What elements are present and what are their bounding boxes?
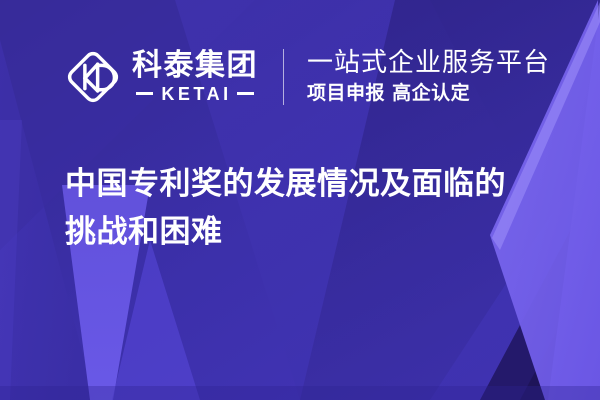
banner-header: 科泰集团 KETAI 一站式企业服务平台 项目申报 高企认定 <box>64 40 550 114</box>
brand-logo[interactable]: 科泰集团 KETAI <box>64 40 258 114</box>
brand-slogan: 一站式企业服务平台 项目申报 高企认定 <box>307 48 550 106</box>
brand-wordmark: 科泰集团 KETAI <box>132 51 258 103</box>
ketai-diamond-kd-monogram-icon <box>64 48 122 106</box>
page-title: 中国专利奖的发展情况及面临的挑战和困难 <box>65 160 535 256</box>
brand-name-en-row: KETAI <box>132 85 258 103</box>
slogan-secondary: 项目申报 高企认定 <box>307 81 550 106</box>
slogan-primary: 一站式企业服务平台 <box>307 48 550 79</box>
wordmark-dash-left-icon <box>136 92 153 95</box>
brand-name-cn: 科泰集团 <box>132 51 258 82</box>
header-divider <box>283 49 284 105</box>
wordmark-dash-right-icon <box>237 92 254 95</box>
brand-name-en: KETAI <box>153 85 236 103</box>
promo-banner: 科泰集团 KETAI 一站式企业服务平台 项目申报 高企认定 中国专利奖的发展情… <box>0 0 600 400</box>
